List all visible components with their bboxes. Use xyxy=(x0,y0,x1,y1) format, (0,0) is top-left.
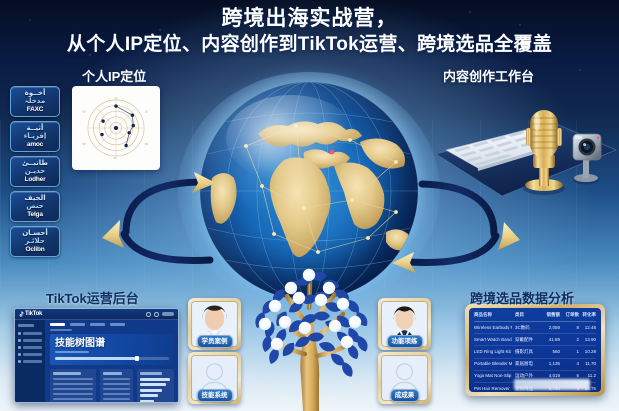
cell-name: Smart Watch Band 4 xyxy=(474,337,512,343)
radar-trend-curve xyxy=(116,106,133,145)
title-line-1: 跨境出海实战营， xyxy=(0,6,619,32)
progress-knob[interactable] xyxy=(135,356,139,361)
bar xyxy=(140,394,158,397)
cell-name: LED Ring Light Kit xyxy=(474,349,512,355)
chip-line-2: حديـن xyxy=(25,168,45,176)
cell-sales: 2,059 xyxy=(540,325,560,331)
chip-line-3: Telga xyxy=(27,211,43,219)
svg-text:60: 60 xyxy=(82,110,85,114)
dashboard-body: 技能树图谱 xyxy=(15,320,178,403)
progress-fill xyxy=(55,357,137,360)
column-header xyxy=(53,372,81,375)
list-item xyxy=(53,378,93,380)
badge-card-skill-system[interactable]: 技能系统 xyxy=(188,352,241,404)
chip-line-3: Oclibn xyxy=(25,246,44,254)
search-icon[interactable] xyxy=(146,312,151,317)
caption-data-analysis: 跨境选品数据分析 xyxy=(470,288,574,307)
tree-fruit xyxy=(271,338,283,350)
cell-name: Wireless Earbuds Pro xyxy=(474,325,512,331)
badge-card-achievement[interactable]: 成成果 xyxy=(378,352,431,404)
column-header-rate: 转化率 xyxy=(582,312,596,318)
badge-label: 技能系统 xyxy=(197,389,233,402)
language-chip: أخــوة مدخلہ FAXC xyxy=(10,86,60,117)
sidebar-item-settings[interactable] xyxy=(18,360,42,363)
svg-text:30: 30 xyxy=(145,142,148,146)
sidebar-item-creator[interactable] xyxy=(18,353,42,356)
orbit-arrows-svg xyxy=(90,168,530,298)
panel-columns xyxy=(50,369,174,403)
orbit-arrows xyxy=(90,168,530,298)
title-line-2: 从个人IP定位、内容创作到TikTok运营、跨境选品全覆盖 xyxy=(0,32,619,58)
list-item xyxy=(103,398,130,400)
list-item xyxy=(53,393,93,395)
tiktok-note-icon xyxy=(19,311,24,317)
poster-title: 跨境出海实战营， 从个人IP定位、内容创作到TikTok运营、跨境选品全覆盖 xyxy=(0,6,619,58)
tab-overview[interactable] xyxy=(50,323,65,326)
sidebar-item-label xyxy=(23,332,42,335)
hero-panel: 技能树图谱 xyxy=(50,334,174,365)
dashboard-sidebar[interactable] xyxy=(15,320,46,403)
gear-icon[interactable] xyxy=(154,312,159,317)
chip-line-3: FAXC xyxy=(27,106,44,114)
bar xyxy=(140,378,170,381)
sidebar-item-data[interactable] xyxy=(18,346,42,349)
caption-tiktok-backend: TikTok运营后台 xyxy=(46,288,139,307)
table-row: Portable Blender Mini家居厨电1,135411.70 xyxy=(474,359,596,371)
cell-name: Pet Hair Remover xyxy=(474,386,512,392)
badge-label: 成成果 xyxy=(390,389,420,402)
hero-title: 技能树图谱 xyxy=(55,338,169,349)
sidebar-heading xyxy=(18,324,34,327)
tablet-screen: 商品名称 类目 销售额 订单数 转化率 Wireless Earbuds Pro… xyxy=(469,308,601,392)
globe-marker-pin xyxy=(330,150,335,155)
home-icon xyxy=(18,332,21,335)
badge-label: 功能项练 xyxy=(387,335,423,348)
cell-sales: 1,135 xyxy=(540,361,560,367)
table-row: Wireless Earbuds Pro3C数码2,059812.48 xyxy=(474,322,596,334)
tiktok-logo-text: TikTok xyxy=(25,311,42,317)
table-row: LED Ring Light Kit摄影灯具560110.28 xyxy=(474,346,596,358)
column-header xyxy=(103,372,122,375)
arrow-right-lower-path xyxy=(410,236,496,262)
chip-line-2: حلائـر xyxy=(25,238,45,246)
cell-category: 家居厨电 xyxy=(515,361,537,367)
panel-progress-list xyxy=(100,369,133,403)
cell-name: Yoga Mat Non-Slip xyxy=(474,373,512,379)
cell-category: 3C数码 xyxy=(515,325,537,331)
list-item xyxy=(103,378,130,380)
cell-rate: 13.90 xyxy=(582,337,596,343)
sidebar-item-content[interactable] xyxy=(18,339,42,342)
arrow-left-lower-path xyxy=(124,234,210,260)
cell-rate: 10.28 xyxy=(582,349,596,355)
sidebar-item-home[interactable] xyxy=(18,332,42,335)
tab-data[interactable] xyxy=(70,323,85,326)
chart-icon xyxy=(18,346,21,349)
camera-illustration xyxy=(573,134,601,185)
language-label-stack: أخــوة مدخلہ FAXC أثيــة إفريـاء amoc طا… xyxy=(10,86,62,261)
panel-ranking-chart xyxy=(137,369,174,403)
blurred-overlay xyxy=(514,379,591,390)
panel-module-list xyxy=(50,369,96,403)
chip-line-1: طانبــئ xyxy=(22,160,48,168)
language-chip: طانبــئ حديـن Lodher xyxy=(10,156,60,187)
radar-chart-card: 102030405060 xyxy=(72,86,160,170)
chip-line-1: أثيــة xyxy=(27,125,44,133)
hero-subtitle xyxy=(55,351,89,353)
tree-fruit xyxy=(337,298,349,310)
cell-orders: 4 xyxy=(563,361,579,367)
badge-card-student-case[interactable]: 学员案例 xyxy=(188,298,241,350)
bar xyxy=(140,389,162,392)
column-header-category: 类目 xyxy=(515,312,537,318)
cell-orders: 1 xyxy=(563,349,579,355)
avatar[interactable] xyxy=(162,312,174,316)
tree-fruit xyxy=(299,322,311,334)
radar-data-points xyxy=(100,104,135,147)
tree-fruit xyxy=(269,300,281,312)
list-item xyxy=(103,383,130,385)
sidebar-item-label xyxy=(23,346,42,349)
radar-chart-svg: 102030405060 xyxy=(75,89,157,167)
cell-category: 穿戴配件 xyxy=(515,337,537,343)
sidebar-item-label xyxy=(23,339,42,342)
tree-fruit xyxy=(329,320,341,332)
table-row: Smart Watch Band 4穿戴配件41.89213.90 xyxy=(474,334,596,346)
arrow-right-upper-head xyxy=(498,222,520,250)
cell-name: Portable Blender Mini xyxy=(474,361,512,367)
dashboard-tabs[interactable] xyxy=(50,323,174,326)
topbar-actions[interactable] xyxy=(146,312,174,317)
cell-orders: 2 xyxy=(563,337,579,343)
arrow-right-upper-path xyxy=(422,184,494,234)
list-item xyxy=(53,398,93,400)
chip-line-3: Lodher xyxy=(25,176,46,184)
dashboard-topbar: TikTok xyxy=(15,309,178,320)
svg-text:10: 10 xyxy=(114,96,117,100)
breadcrumb xyxy=(50,329,72,331)
caption-content-studio: 内容创作工作台 xyxy=(443,66,534,85)
tab-settings[interactable] xyxy=(110,323,125,326)
list-item xyxy=(103,393,130,395)
cell-rate: 12.48 xyxy=(582,325,596,331)
tree-fruit xyxy=(279,316,291,328)
chip-line-3: amoc xyxy=(27,141,43,149)
column-header-orders: 订单数 xyxy=(563,312,579,318)
chip-line-1: أحسـان xyxy=(22,230,48,238)
arrow-left-upper-path xyxy=(126,182,198,232)
cell-orders: 8 xyxy=(563,325,579,331)
chip-line-2: مدخلہ xyxy=(25,98,45,106)
table-header-row: 商品名称 类目 销售额 订单数 转化率 xyxy=(474,312,596,322)
cell-rate: 11.70 xyxy=(582,361,596,367)
chip-line-2: حنص xyxy=(26,203,43,211)
column-header xyxy=(140,372,162,375)
tab-content[interactable] xyxy=(90,323,105,326)
list-item xyxy=(53,388,93,390)
tree-fruit xyxy=(259,318,271,330)
tree-fruit xyxy=(349,316,361,328)
chip-line-2: إفريـاء xyxy=(24,133,47,141)
tiktok-logo: TikTok xyxy=(19,311,42,317)
language-chip: الجيف حنص Telga xyxy=(10,191,60,222)
sidebar-item-label xyxy=(23,360,42,363)
svg-text:20: 20 xyxy=(145,110,148,114)
svg-text:40: 40 xyxy=(114,156,117,160)
sidebar-item-label xyxy=(23,353,42,356)
dashboard-main: 技能树图谱 xyxy=(46,320,178,403)
bar xyxy=(140,383,166,386)
badge-label: 学员案例 xyxy=(197,335,233,348)
cell-sales: 41.89 xyxy=(540,337,560,343)
cell-sales: 560 xyxy=(540,349,560,355)
cell-category: 摄影灯具 xyxy=(515,349,537,355)
column-header-name: 商品名称 xyxy=(474,312,512,318)
data-analysis-tablet[interactable]: 商品名称 类目 销售额 订单数 转化率 Wireless Earbuds Pro… xyxy=(465,304,605,396)
user-icon xyxy=(18,353,21,356)
chip-line-1: أخــوة xyxy=(25,90,46,98)
svg-text:50: 50 xyxy=(82,142,85,146)
list-item xyxy=(53,383,93,385)
caption-personal-ip: 个人IP定位 xyxy=(82,66,146,85)
content-icon xyxy=(18,339,21,342)
progress-bar[interactable] xyxy=(55,357,169,360)
language-chip: أحسـان حلائـر Oclibn xyxy=(10,226,60,257)
badge-card-practical-project[interactable]: 功能项练 xyxy=(378,298,431,350)
language-chip: أثيــة إفريـاء amoc xyxy=(10,121,60,152)
bar xyxy=(140,400,154,403)
tiktok-dashboard-mockup[interactable]: TikTok xyxy=(14,308,179,403)
list-item xyxy=(103,388,130,390)
poster-canvas: 跨境出海实战营， 从个人IP定位、内容创作到TikTok运营、跨境选品全覆盖 个… xyxy=(0,0,619,411)
settings-icon xyxy=(18,360,21,363)
column-header-sales: 销售额 xyxy=(540,312,560,318)
chip-line-1: الجيف xyxy=(24,195,45,203)
tree-fruit xyxy=(341,336,353,348)
